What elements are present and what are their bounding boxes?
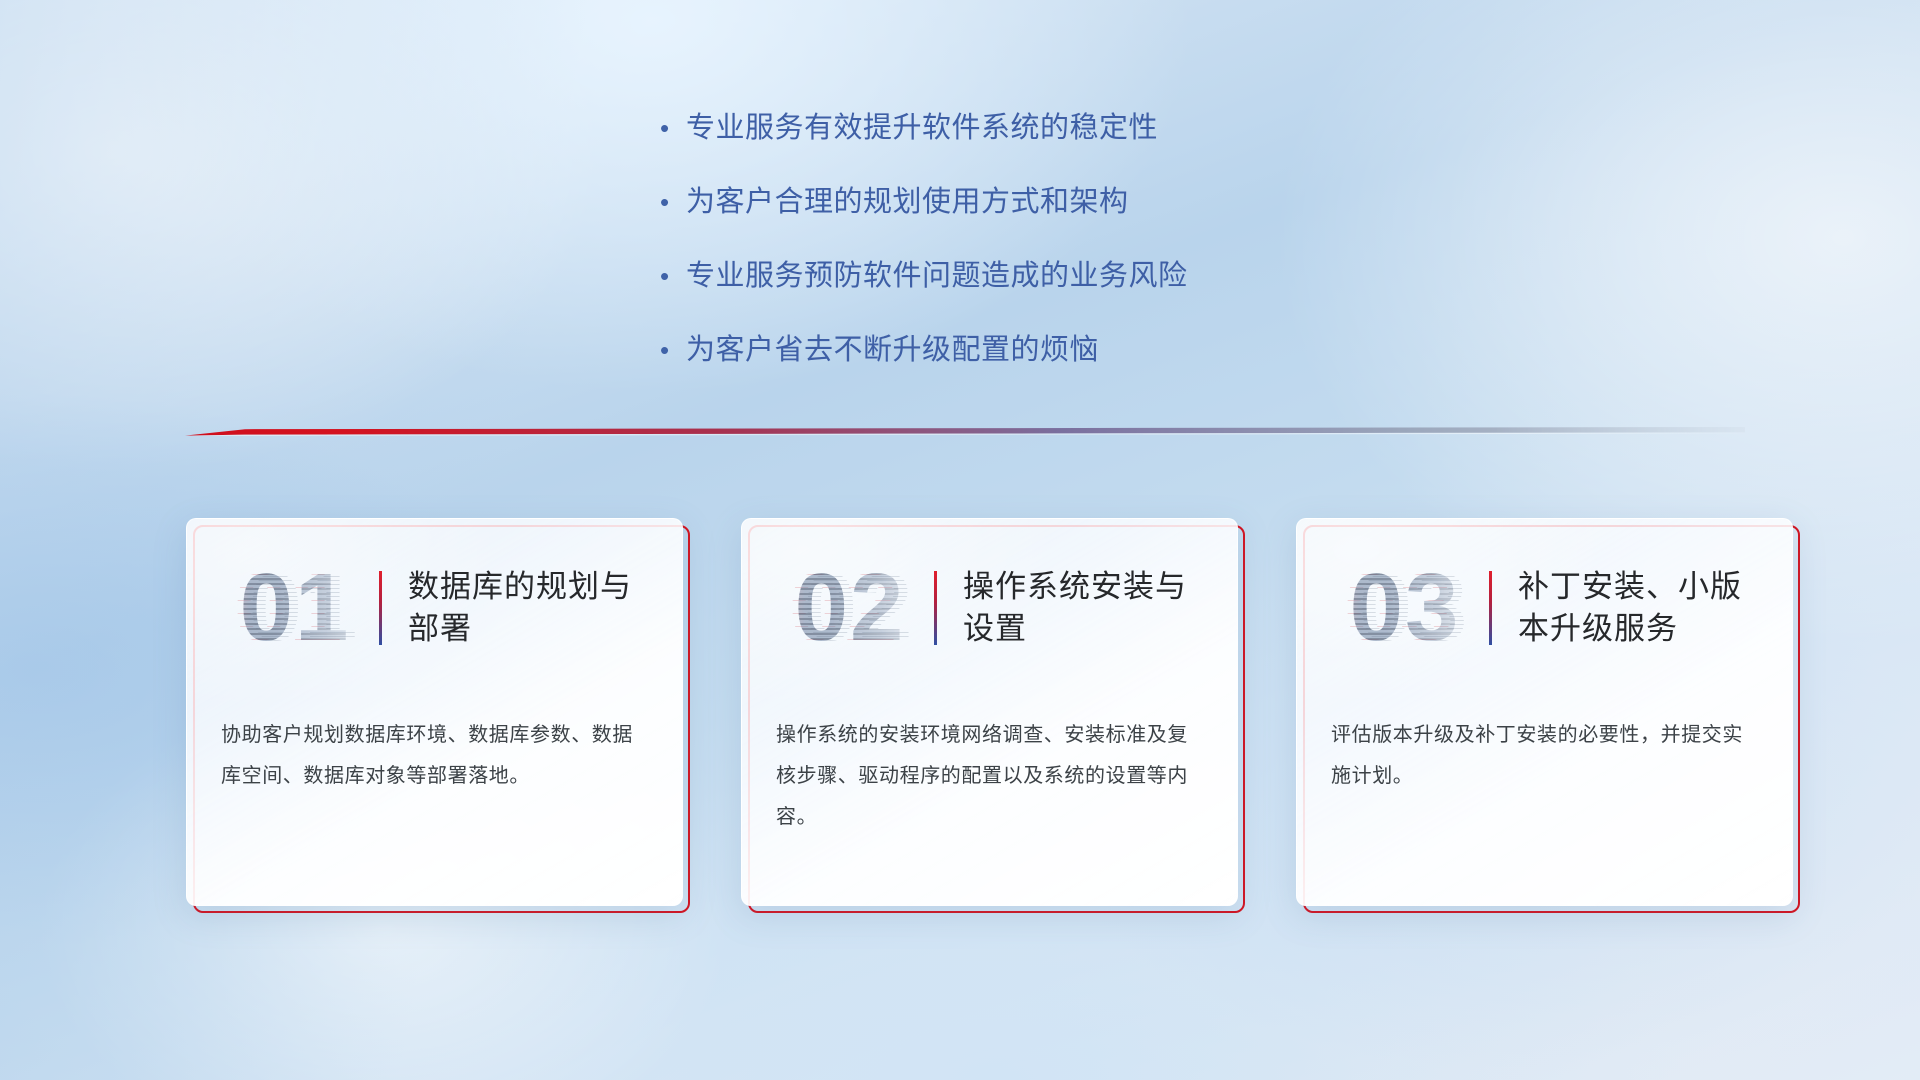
list-item: • 为客户省去不断升级配置的烦恼 xyxy=(660,330,1188,370)
card-surface[interactable]: 02 02 02 02 操作系统安装与设置 操作系统的安装环境网络调查、安装标准… xyxy=(741,518,1238,906)
card-number-graphic: 02 02 02 02 xyxy=(770,548,930,668)
card-header: 01 01 01 01 数据库的规划与部署 xyxy=(187,545,682,671)
card-number-graphic: 01 01 01 01 xyxy=(215,548,375,668)
card-number-offset-streaks: 01 xyxy=(224,548,384,668)
tapered-divider-icon xyxy=(185,424,1745,440)
bullet-text: 专业服务预防软件问题造成的业务风险 xyxy=(686,256,1188,296)
card-header: 02 02 02 02 操作系统安装与设置 xyxy=(742,545,1237,671)
card-title: 操作系统安装与设置 xyxy=(963,566,1203,650)
list-item: • 专业服务预防软件问题造成的业务风险 xyxy=(660,256,1188,296)
section-divider xyxy=(185,424,1745,440)
bullet-marker-icon: • xyxy=(660,256,686,296)
bullet-text: 为客户合理的规划使用方式和架构 xyxy=(686,182,1129,222)
bullet-marker-icon: • xyxy=(660,182,686,222)
bullet-marker-icon: • xyxy=(660,108,686,148)
bullet-text: 专业服务有效提升软件系统的稳定性 xyxy=(686,108,1158,148)
card-title: 数据库的规划与部署 xyxy=(408,566,648,650)
card-number-offset-streaks: 02 xyxy=(779,548,939,668)
card-number-offset-streaks: 03 xyxy=(1334,548,1494,668)
card-title: 补丁安装、小版本升级服务 xyxy=(1518,566,1750,650)
card-number-graphic: 03 03 03 03 xyxy=(1325,548,1485,668)
list-item: • 专业服务有效提升软件系统的稳定性 xyxy=(660,108,1188,148)
bullet-marker-icon: • xyxy=(660,330,686,370)
card-description: 评估版本升级及补丁安装的必要性，并提交实施计划。 xyxy=(1331,715,1762,797)
bullet-text: 为客户省去不断升级配置的烦恼 xyxy=(686,330,1099,370)
card-header: 03 03 03 03 补丁安装、小版本升级服务 xyxy=(1297,545,1792,671)
card-surface[interactable]: 01 01 01 01 数据库的规划与部署 协助客户规划数据库环境、数据库参数、… xyxy=(186,518,683,906)
card-surface[interactable]: 03 03 03 03 补丁安装、小版本升级服务 评估版本升级及补丁安装的必要性… xyxy=(1296,518,1793,906)
card-description: 操作系统的安装环境网络调查、安装标准及复核步骤、驱动程序的配置以及系统的设置等内… xyxy=(776,715,1207,838)
service-card-02[interactable]: 02 02 02 02 操作系统安装与设置 操作系统的安装环境网络调查、安装标准… xyxy=(741,518,1238,906)
card-description: 协助客户规划数据库环境、数据库参数、数据库空间、数据库对象等部署落地。 xyxy=(221,715,652,797)
service-card-01[interactable]: 01 01 01 01 数据库的规划与部署 协助客户规划数据库环境、数据库参数、… xyxy=(186,518,683,906)
list-item: • 为客户合理的规划使用方式和架构 xyxy=(660,182,1188,222)
service-card-03[interactable]: 03 03 03 03 补丁安装、小版本升级服务 评估版本升级及补丁安装的必要性… xyxy=(1296,518,1793,906)
service-card-row: 01 01 01 01 数据库的规划与部署 协助客户规划数据库环境、数据库参数、… xyxy=(186,518,1793,906)
benefits-bullet-list: • 专业服务有效提升软件系统的稳定性 • 为客户合理的规划使用方式和架构 • 专… xyxy=(660,108,1188,404)
